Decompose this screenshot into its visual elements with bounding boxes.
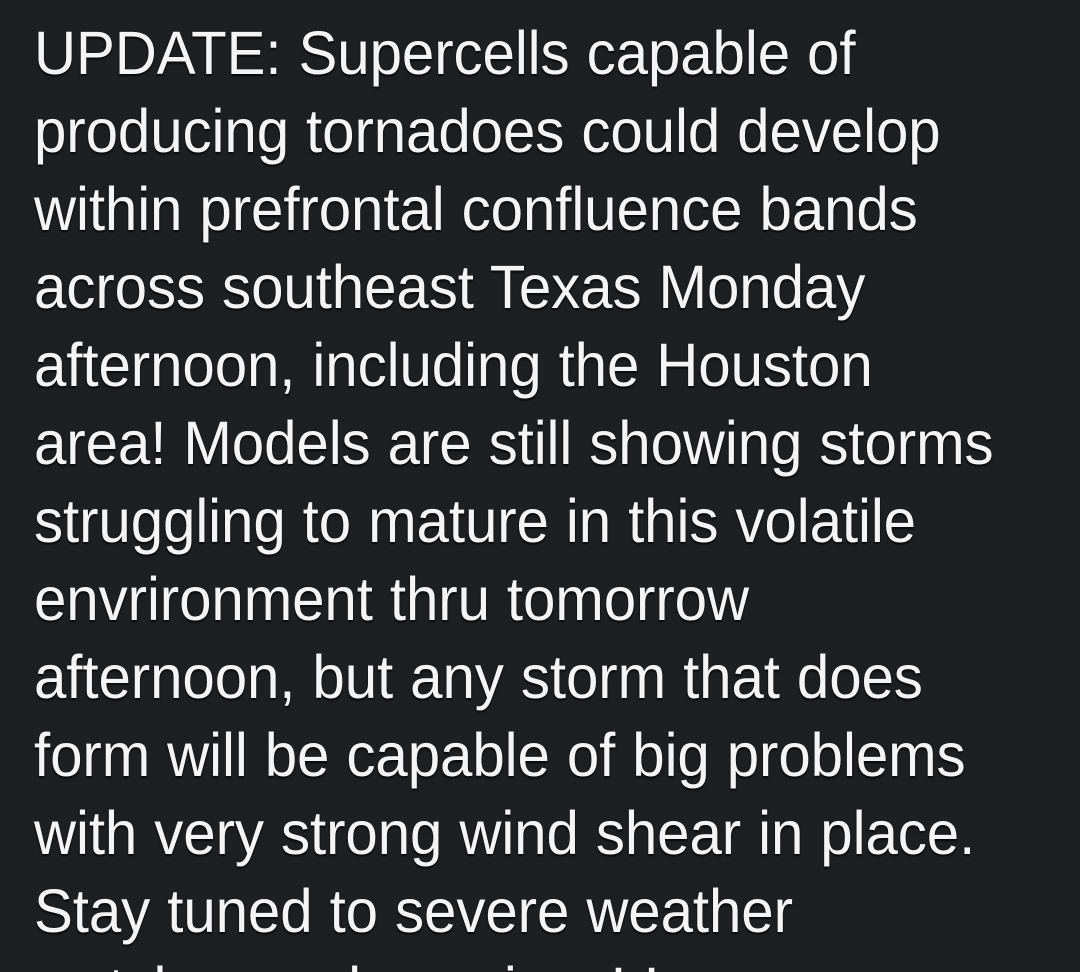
post-screen: UPDATE: Supercells capable of producing … <box>0 0 1080 972</box>
post-body-text: UPDATE: Supercells capable of producing … <box>34 14 1000 972</box>
